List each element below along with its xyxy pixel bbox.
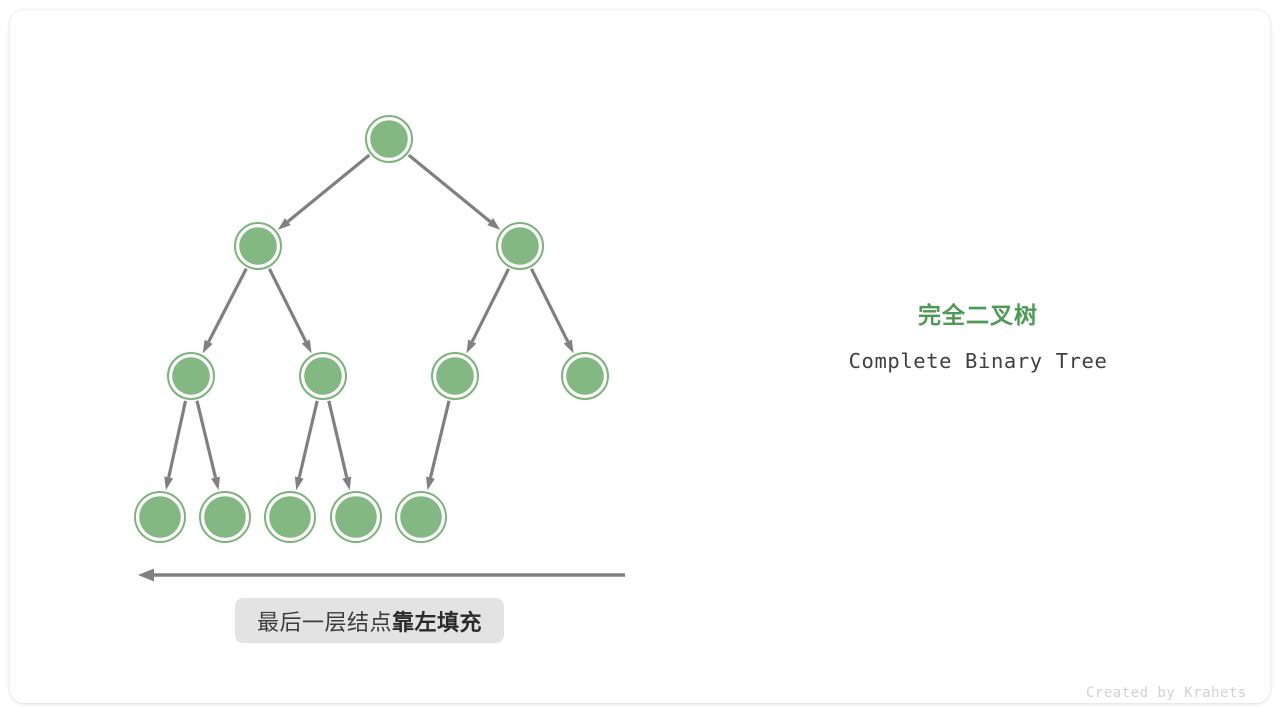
tree-node-fill (370, 120, 408, 158)
tree-node[interactable] (497, 223, 543, 269)
tree-node-fill (269, 496, 311, 538)
tree-node[interactable] (331, 492, 381, 542)
tree-edge-line (299, 401, 317, 478)
tree-edge-line (409, 155, 490, 222)
tree-edge-arrowhead (564, 340, 574, 354)
fill-label-normal-text: 最后一层结点 (257, 605, 392, 637)
tree-node-fill (172, 357, 210, 395)
tree-node[interactable] (135, 492, 185, 542)
tree-nodes (135, 116, 608, 542)
tree-node[interactable] (235, 223, 281, 269)
tree-edge-line (197, 401, 216, 478)
fill-label-bold-text: 靠左填充 (392, 605, 482, 637)
tree-edge-line (472, 269, 508, 342)
tree-node-fill (335, 496, 377, 538)
tree-node[interactable] (265, 492, 315, 542)
diagram-card: 完全二叉树 Complete Binary Tree 最后一层结点靠左填充 Cr… (10, 10, 1270, 703)
tree-node-fill (566, 357, 604, 395)
tree-edge-line (329, 401, 347, 478)
credit-text: Created by Krahets (1086, 685, 1247, 701)
tree-edge-arrowhead (164, 476, 173, 490)
direction-arrow (138, 569, 625, 582)
tree-node-fill (501, 227, 539, 265)
tree-node[interactable] (366, 116, 412, 162)
tree-node-fill (139, 496, 181, 538)
tree-edge-line (169, 401, 186, 478)
caption-block: 完全二叉树 Complete Binary Tree (770, 302, 1186, 373)
tree-edge-line (288, 155, 369, 222)
tree-edges (164, 155, 573, 490)
tree-edge-arrowhead (342, 477, 351, 491)
tree-edge-line (209, 269, 247, 342)
tree-edge-line (430, 401, 449, 478)
tree-edge-arrowhead (203, 340, 213, 354)
tree-edge-line (531, 269, 567, 342)
tree-node[interactable] (396, 492, 446, 542)
tree-node-fill (400, 496, 442, 538)
tree-node[interactable] (200, 492, 250, 542)
tree-edge-arrowhead (302, 340, 312, 354)
tree-edge-arrowhead (466, 340, 476, 354)
tree-edge-line (269, 269, 305, 342)
last-level-fill-label: 最后一层结点靠左填充 (235, 598, 504, 643)
tree-edge-arrowhead (295, 477, 304, 491)
tree-edge-arrowhead (426, 477, 435, 491)
tree-node-fill (239, 227, 277, 265)
caption-subtitle: Complete Binary Tree (770, 349, 1186, 373)
tree-edge-arrowhead (211, 477, 220, 491)
tree-node[interactable] (562, 353, 608, 399)
tree-node[interactable] (432, 353, 478, 399)
direction-arrow-head (138, 569, 154, 582)
caption-title: 完全二叉树 (770, 302, 1186, 330)
tree-node[interactable] (168, 353, 214, 399)
tree-node-fill (204, 496, 246, 538)
tree-node-fill (304, 357, 342, 395)
tree-node-fill (436, 357, 474, 395)
tree-node[interactable] (300, 353, 346, 399)
